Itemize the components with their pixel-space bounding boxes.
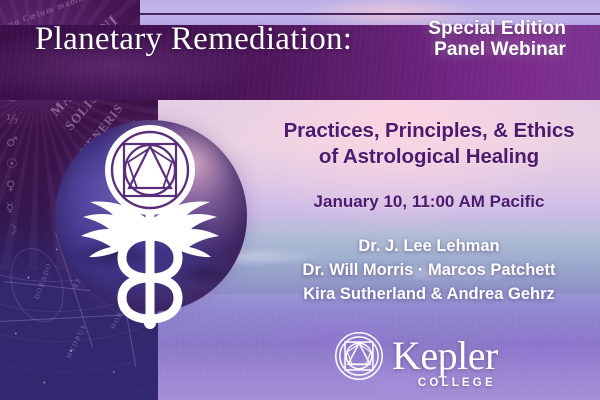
badge-line-2: Panel Webinar [428,39,566,60]
headline: Practices, Principles, & Ethics of Astro… [258,118,600,170]
glyph-sun: ☉ [6,154,19,176]
speaker-line-1: Dr. J. Lee Lehman [258,234,600,258]
glyph-mercury: ☿ [6,198,19,220]
status-badge: Special Edition Panel Webinar [428,18,566,60]
kepler-wordmark: Kepler COLLEGE [392,336,498,376]
planet-glyph-column: ♣ ⅐ ♂ ☉ ♀ ☿ ☽ [6,88,19,242]
kepler-seal-icon [330,327,388,385]
planet-sphere [50,118,250,318]
glyph-jupiter: ⅐ [6,110,19,132]
glyph-mars: ♂ [6,132,19,154]
top-divider-rule [140,13,600,15]
kepler-seal-icon [105,125,195,215]
glyph-venus: ♀ [6,176,19,198]
speaker-line-2: Dr. Will Morris · Marcos Patchett [258,258,600,282]
headline-line-2: of Astrological Healing [258,144,600,170]
kepler-word: Kepler [392,336,498,376]
speaker-list: Dr. J. Lee Lehman Dr. Will Morris · Marc… [258,234,600,306]
kepler-subword: COLLEGE [418,377,496,389]
webinar-banner: nu Cœlum mama SATVRNI MARTIS SOLIS VENER… [0,0,600,400]
caduceus-icon [50,118,250,333]
page-title: Planetary Remediation: [35,22,352,56]
headline-line-1: Practices, Principles, & Ethics [258,118,600,144]
event-datetime: January 10, 11:00 AM Pacific [258,192,600,212]
kepler-college-logo: Kepler COLLEGE [330,325,540,387]
speaker-line-3: Kira Sutherland & Andrea Gehrz [258,282,600,306]
badge-line-1: Special Edition [428,18,566,39]
